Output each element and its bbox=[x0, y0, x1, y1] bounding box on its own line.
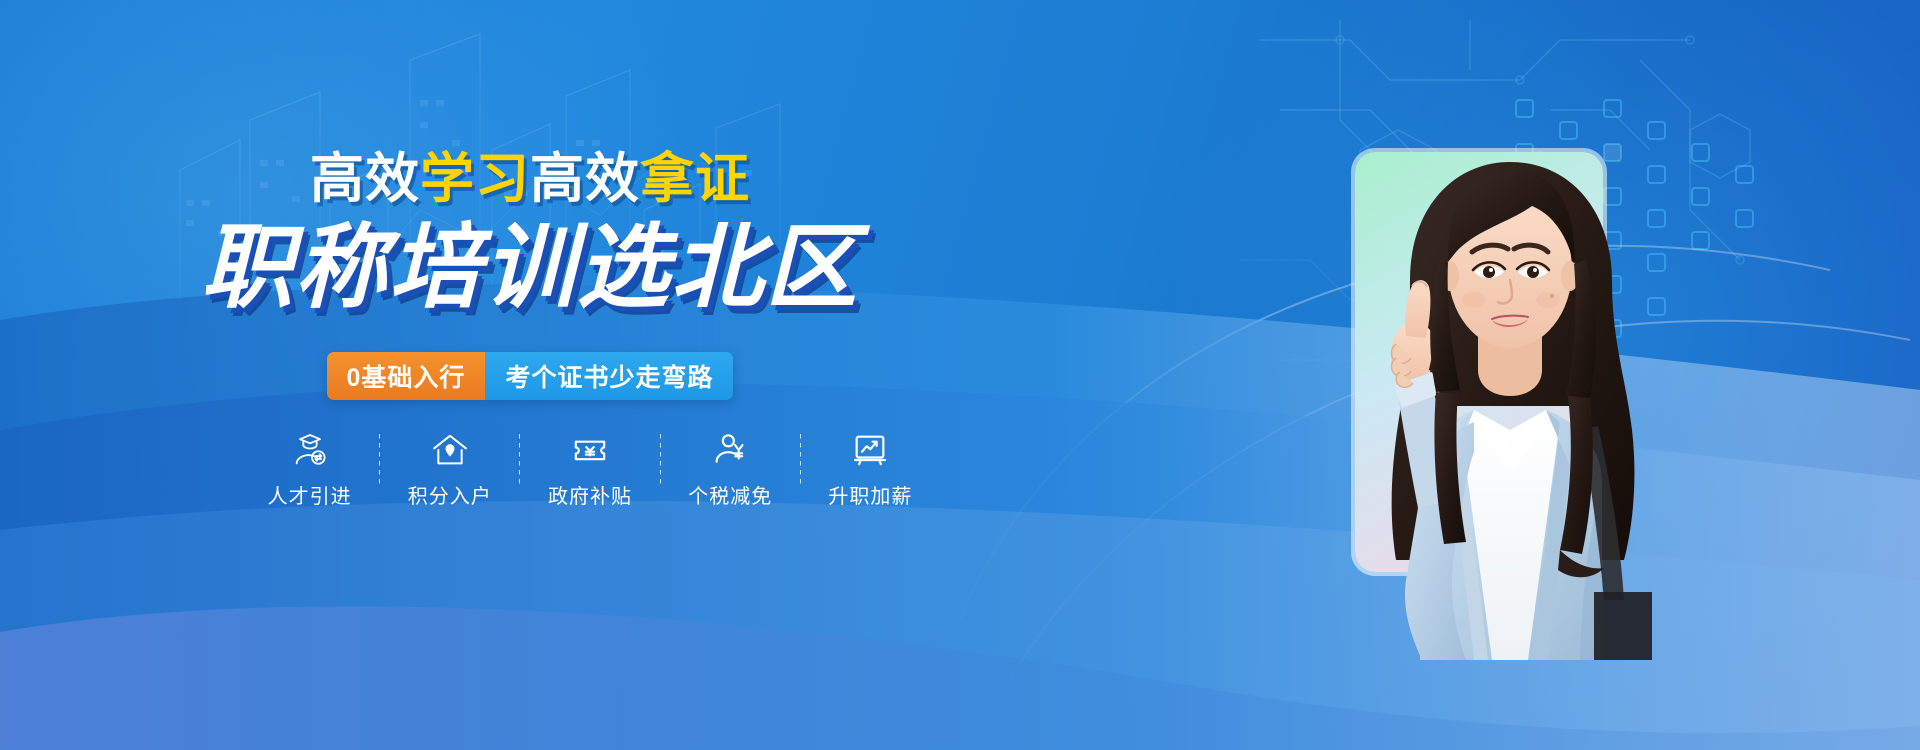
feature-label: 升职加薪 bbox=[828, 480, 912, 509]
ticket-yuan-icon bbox=[570, 430, 610, 470]
house-location-pin-icon bbox=[430, 430, 470, 470]
feature-item-tax-reduction[interactable]: 个税减免 bbox=[661, 430, 800, 509]
feature-label: 政府补贴 bbox=[548, 480, 632, 509]
headline-main-title: 职称培训选北区 bbox=[0, 222, 1060, 314]
badge-orange-label: 0基础入行 bbox=[327, 352, 486, 400]
tagline-badge-row: 0基础入行 考个证书少走弯路 bbox=[0, 352, 1060, 400]
feature-item-points-residency[interactable]: 积分入户 bbox=[380, 430, 519, 509]
feature-item-government-subsidy[interactable]: 政府补贴 bbox=[520, 430, 659, 509]
feature-label: 人才引进 bbox=[268, 480, 352, 509]
feature-item-talent-introduction[interactable]: 人才引进 bbox=[240, 430, 379, 509]
headline-sub-part-3: 高效 bbox=[530, 149, 640, 209]
banner-content: 高效学习高效拿证 职称培训选北区 0基础入行 考个证书少走弯路 bbox=[0, 0, 1060, 750]
feature-label: 个税减免 bbox=[688, 480, 772, 509]
person-yuan-icon bbox=[710, 430, 750, 470]
headline-sub-part-4: 拿证 bbox=[640, 149, 750, 209]
headline-sub-part-2: 学习 bbox=[420, 149, 530, 209]
avatar bbox=[1260, 130, 1740, 660]
feature-label: 积分入户 bbox=[408, 480, 492, 509]
feature-item-promotion-raise[interactable]: 升职加薪 bbox=[801, 430, 940, 509]
badge-blue-label: 考个证书少走弯路 bbox=[485, 352, 733, 400]
headline-subtitle: 高效学习高效拿证 bbox=[0, 152, 1060, 206]
chart-board-icon bbox=[850, 430, 890, 470]
graduate-cap-person-icon bbox=[290, 430, 330, 470]
feature-list: 人才引进 积分入户 bbox=[240, 430, 940, 509]
tagline-badge[interactable]: 0基础入行 考个证书少走弯路 bbox=[327, 352, 734, 400]
hero-image-area bbox=[1260, 130, 1740, 660]
promo-banner: 高效学习高效拿证 职称培训选北区 0基础入行 考个证书少走弯路 bbox=[0, 0, 1920, 750]
headline-sub-part-1: 高效 bbox=[310, 149, 420, 209]
